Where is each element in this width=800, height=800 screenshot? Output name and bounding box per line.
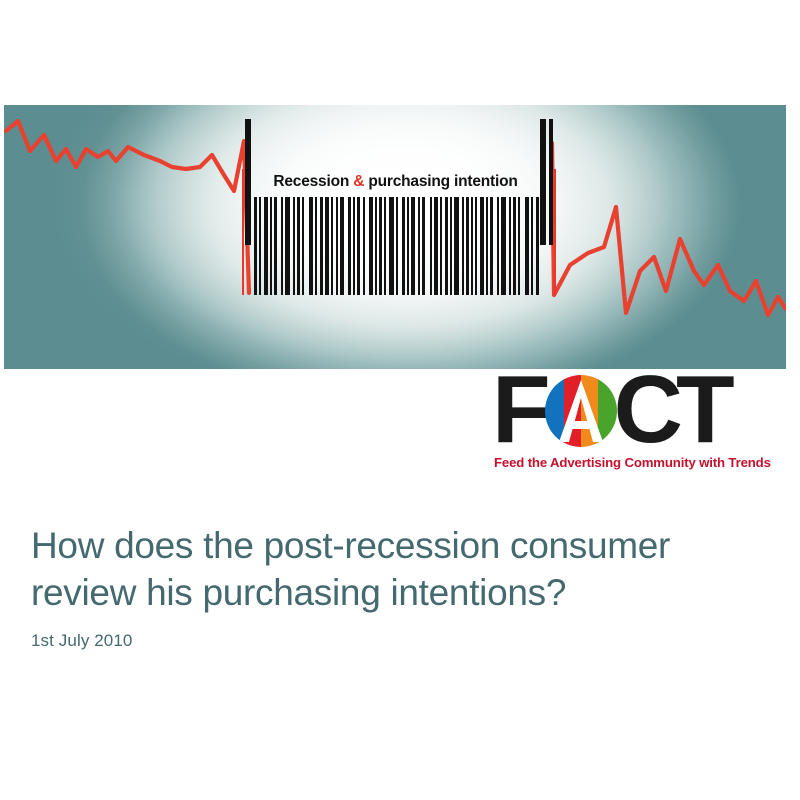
sparkline-left-series — [6, 121, 249, 293]
fact-logo-wordmark: F — [492, 369, 792, 451]
barcode-title-row: Recession & purchasing intention — [245, 169, 553, 195]
barcode-label: Recession & purchasing intention — [251, 171, 540, 193]
barcode-right-rail — [554, 169, 556, 295]
fact-logo-tagline: Feed the Advertising Community with Tren… — [494, 455, 794, 470]
barcode-guard-bar-right-thin — [549, 119, 553, 245]
logo-letter-c: C — [614, 369, 680, 451]
hero-banner: Recession & purchasing intention — [4, 105, 786, 369]
colored-pie-a-icon — [544, 374, 618, 448]
logo-letter-a-mark — [544, 374, 618, 448]
barcode-label-part-1: Recession — [273, 173, 353, 190]
logo-letter-f: F — [492, 369, 548, 451]
fact-logo: F — [492, 369, 792, 479]
barcode-guard-bar-right — [540, 119, 546, 245]
sparkline-right-series — [552, 143, 786, 315]
presentation-date: 1st July 2010 — [31, 631, 761, 651]
page-title: How does the post-recession consumer rev… — [31, 522, 761, 616]
logo-letter-t: T — [676, 369, 732, 451]
barcode-bar — [536, 197, 539, 295]
slide-root: Recession & purchasing intention F — [0, 0, 800, 800]
barcode-bars — [254, 197, 539, 295]
headline-block: How does the post-recession consumer rev… — [31, 522, 761, 651]
barcode-left-rail — [242, 169, 244, 295]
barcode-label-part-2: purchasing intention — [364, 173, 517, 190]
barcode-graphic: Recession & purchasing intention — [245, 169, 553, 295]
barcode-label-ampersand: & — [353, 173, 364, 190]
